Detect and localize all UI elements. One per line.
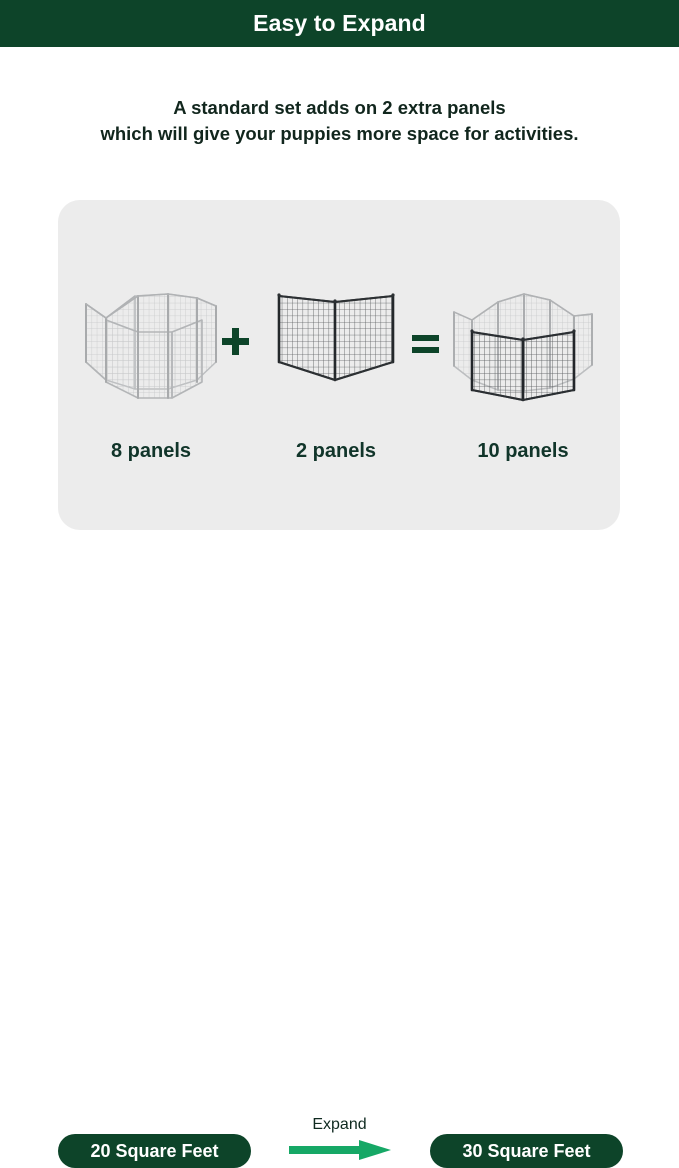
subtitle-line-1: A standard set adds on 2 extra panels [0, 95, 679, 121]
plus-sign-icon [216, 322, 256, 362]
right-arrow-icon [287, 1138, 393, 1162]
comparison-item-2-panels: 2 panels [261, 258, 411, 458]
equals-bar-bottom [412, 347, 439, 353]
expand-indicator: Expand [262, 1116, 417, 1168]
square-feet-badge-before-label: 20 Square Feet [90, 1141, 218, 1162]
comparison-item-10-panels: 10 panels [448, 258, 598, 458]
comparison-row: 8 panels [58, 200, 620, 530]
header-banner: Easy to Expand [0, 0, 679, 47]
footer-row: 20 Square Feet Expand 30 Square Feet [0, 556, 679, 616]
decagon-playpen-10-panels-illustration [448, 258, 598, 403]
equals-bar-top [412, 335, 439, 341]
octagon-playpen-8-panels-illustration [76, 258, 226, 403]
square-feet-badge-before: 20 Square Feet [58, 1134, 251, 1168]
plus-bar-vertical [232, 328, 239, 355]
two-panel-extension-illustration [261, 258, 411, 403]
square-feet-badge-after: 30 Square Feet [430, 1134, 623, 1168]
comparison-card: 8 panels [58, 200, 620, 530]
pen-label-8-panels: 8 panels [76, 440, 226, 463]
expand-label: Expand [262, 1116, 417, 1134]
comparison-item-8-panels: 8 panels [76, 258, 226, 458]
subtitle-block: A standard set adds on 2 extra panels wh… [0, 95, 679, 148]
square-feet-badge-after-label: 30 Square Feet [462, 1141, 590, 1162]
pen-label-10-panels: 10 panels [448, 440, 598, 463]
pen-label-2-panels: 2 panels [261, 440, 411, 463]
subtitle-line-2: which will give your puppies more space … [0, 121, 679, 147]
equals-sign-icon [406, 322, 446, 362]
page-title: Easy to Expand [253, 12, 426, 35]
